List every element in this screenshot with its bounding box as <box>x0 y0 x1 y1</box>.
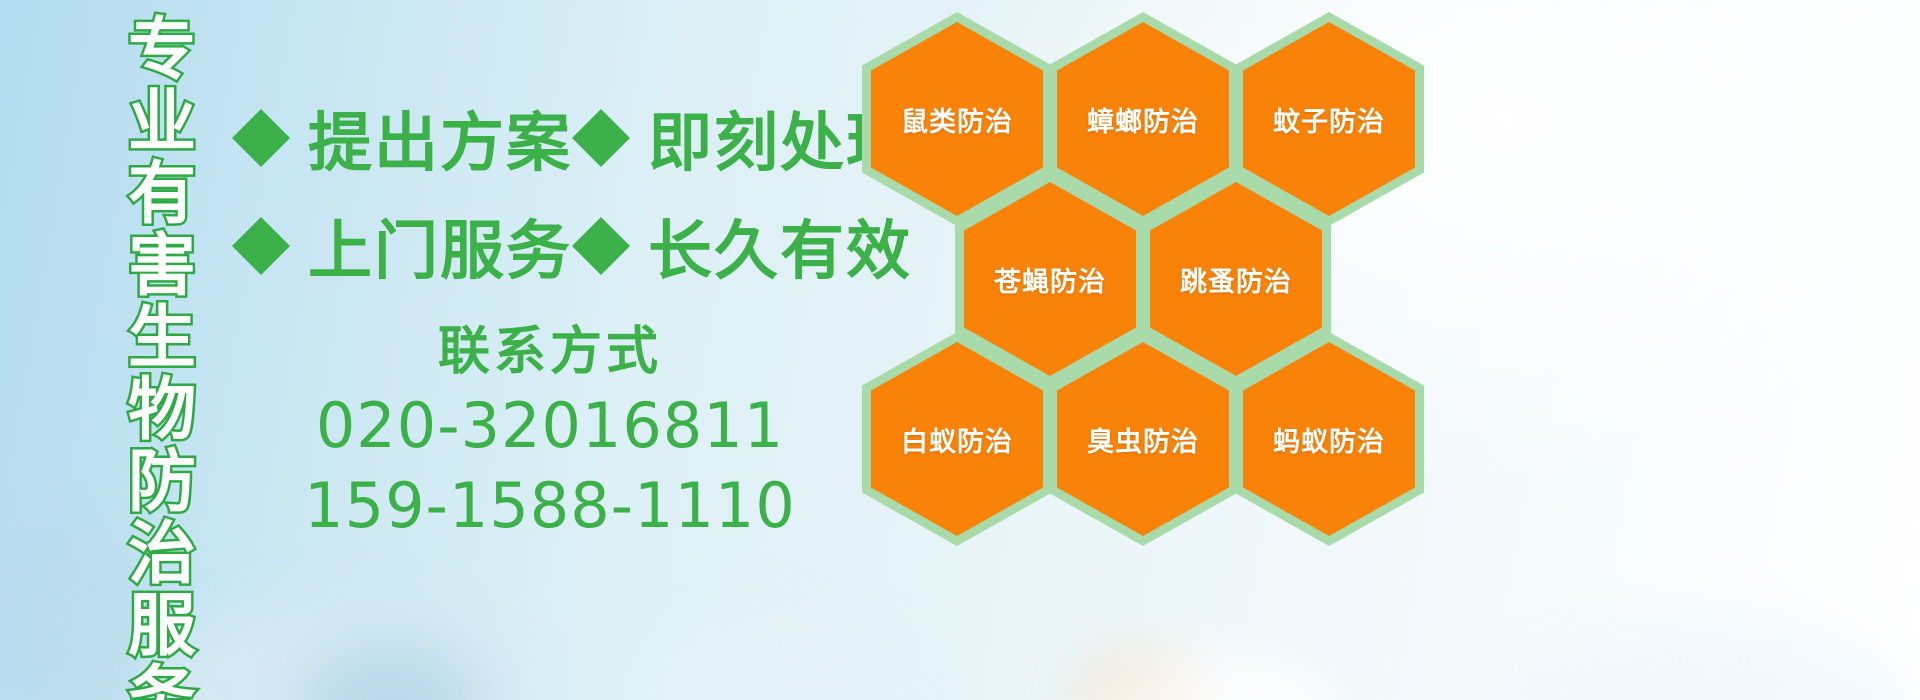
service-hex-label: 蚊子防治 <box>1273 100 1385 139</box>
phone-number-mobile[interactable]: 159-1588-1110 <box>300 466 800 546</box>
vertical-headline-char: 有 <box>128 158 196 230</box>
service-hex-label: 跳蚤防治 <box>1180 260 1292 299</box>
diamond-icon <box>232 80 290 138</box>
vertical-headline-char: 防 <box>128 446 196 518</box>
feature-item: 提出方案 <box>232 92 572 184</box>
background-blur-blob <box>1080 650 1340 700</box>
feature-label: 上门服务 <box>308 200 572 292</box>
service-hex-label: 鼠类防治 <box>901 100 1013 139</box>
diamond-icon <box>572 188 630 246</box>
background-blur-blob <box>1080 660 1200 700</box>
vertical-headline-char: 专 <box>128 14 196 86</box>
vertical-headline-char: 服 <box>128 590 196 662</box>
feature-label: 提出方案 <box>308 92 572 184</box>
diamond-icon <box>232 188 290 246</box>
feature-row: 提出方案 即刻处理 <box>232 84 872 192</box>
service-honeycomb: 鼠类防治 蟑螂防治 蚊子防治 苍蝇防治 跳蚤防治 白蚁防治 臭虫防治 <box>862 4 1462 564</box>
service-hex-label: 苍蝇防治 <box>994 260 1106 299</box>
contact-block: 联系方式 020-32016811 159-1588-1110 <box>300 318 800 546</box>
feature-row: 上门服务 长久有效 <box>232 192 872 300</box>
service-hex-label: 白蚁防治 <box>901 420 1013 459</box>
feature-item: 上门服务 <box>232 200 572 292</box>
phone-number-landline[interactable]: 020-32016811 <box>300 386 800 466</box>
diamond-icon <box>572 80 630 138</box>
vertical-headline-char: 物 <box>128 374 196 446</box>
vertical-headline-char: 治 <box>128 518 196 590</box>
feature-item: 长久有效 <box>572 200 912 292</box>
contact-title: 联系方式 <box>300 318 800 386</box>
vertical-headline-char: 害 <box>128 230 196 302</box>
service-hex-label: 蟑螂防治 <box>1087 100 1199 139</box>
service-hex-label: 臭虫防治 <box>1087 420 1199 459</box>
feature-list: 提出方案 即刻处理 上门服务 长久有效 <box>232 84 872 300</box>
vertical-headline-char: 生 <box>128 302 196 374</box>
background-blur-blob <box>640 615 940 700</box>
background-blur-blob <box>1500 620 1920 700</box>
vertical-headline-char: 业 <box>128 86 196 158</box>
service-hex-label: 蚂蚁防治 <box>1273 420 1385 459</box>
feature-item: 即刻处理 <box>572 92 912 184</box>
promo-banner: 专 业 有 害 生 物 防 治 服 务 提出方案 即刻处理 上门服务 <box>0 0 1920 700</box>
background-blur-blob <box>300 640 480 700</box>
vertical-headline-char: 务 <box>128 662 196 700</box>
vertical-headline: 专 业 有 害 生 物 防 治 服 务 <box>104 14 220 686</box>
